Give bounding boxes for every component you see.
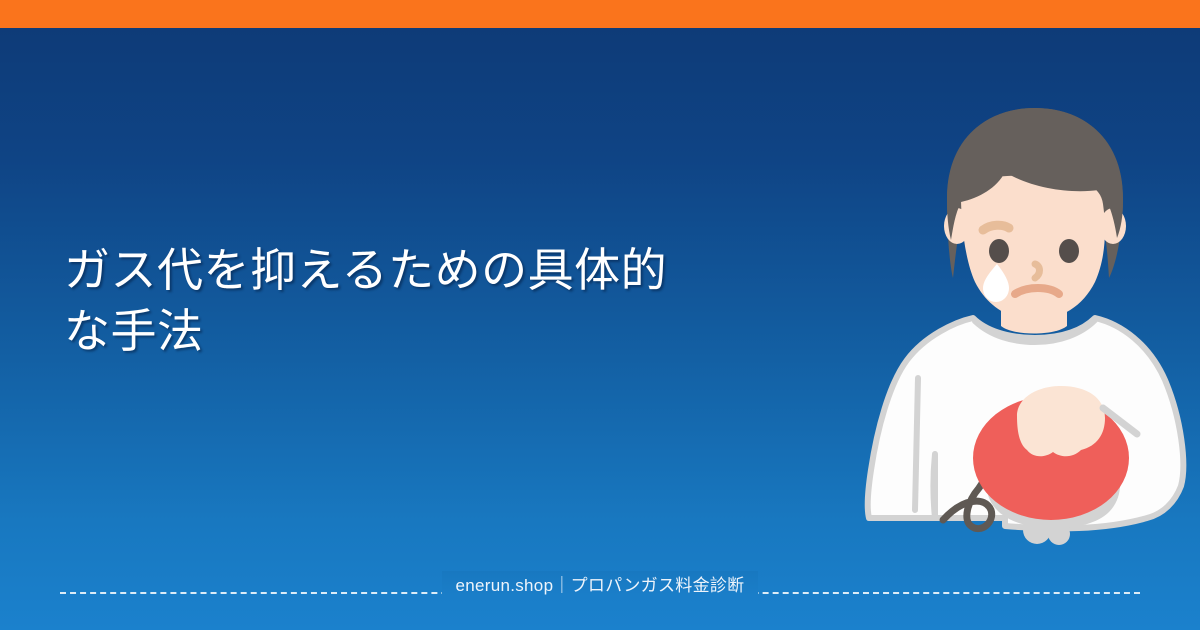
face [961,175,1105,320]
footer-divider [60,592,1140,594]
gradient-stage: ガス代を抑えるための具体的 な手法 [0,28,1200,630]
page-title: ガス代を抑えるための具体的 な手法 [64,240,764,362]
right-eye [1059,239,1079,263]
worried-boy-illustration [855,78,1200,578]
left-eye [989,239,1009,263]
orange-accent-bar [0,0,1200,28]
share-card-canvas: ガス代を抑えるための具体的 な手法 [0,0,1200,630]
eyebrow [983,225,1009,230]
